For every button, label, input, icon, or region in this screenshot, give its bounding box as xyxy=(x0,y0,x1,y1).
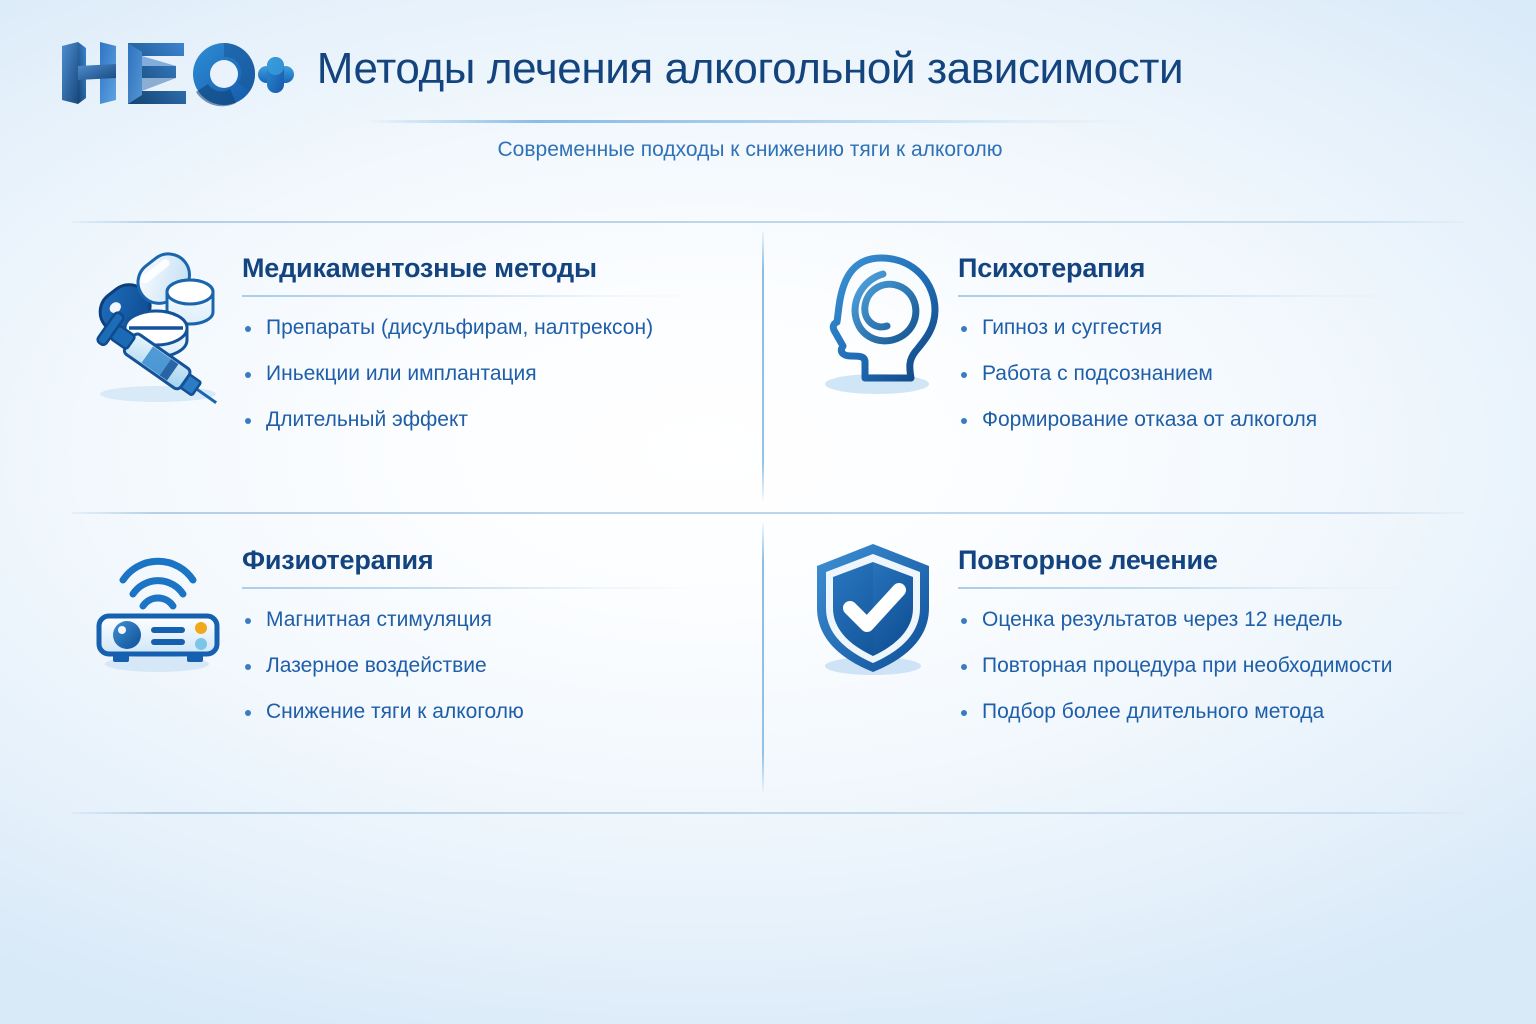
header: Методы лечения алкогольной зависимости С… xyxy=(0,0,1536,200)
divider-vertical-lower xyxy=(762,524,764,792)
bullet-dot-icon xyxy=(961,326,967,332)
divider-bottom xyxy=(72,812,1464,814)
list-item: Иньекции или имплантация xyxy=(242,361,744,387)
shield-check-icon xyxy=(790,532,958,686)
bullet-list: Гипноз и суггестия Работа с подсознанием… xyxy=(958,297,1460,434)
list-item: Работа с подсознанием xyxy=(958,361,1460,387)
list-item: Повторная процедура при необходимости xyxy=(958,653,1460,679)
list-item-label: Формирование отказа от алкоголя xyxy=(982,408,1317,431)
divider-top xyxy=(72,221,1464,223)
card-title: Повторное лечение xyxy=(958,546,1460,576)
list-item-label: Гипноз и суггестия xyxy=(982,316,1162,339)
list-item: Оценка результатов через 12 недель xyxy=(958,607,1460,633)
title-underline xyxy=(365,120,1145,123)
bullet-list: Оценка результатов через 12 недель Повто… xyxy=(958,589,1460,726)
card-body: Физиотерапия Магнитная стимуляция Лазерн… xyxy=(242,532,744,725)
pills-syringe-icon xyxy=(74,240,242,404)
page-subtitle: Современные подходы к снижению тяги к ал… xyxy=(300,138,1200,162)
card-title: Психотерапия xyxy=(958,254,1460,284)
divider-middle xyxy=(72,512,1464,514)
bullet-dot-icon xyxy=(961,618,967,624)
list-item: Лазерное воздействие xyxy=(242,653,744,679)
bullet-dot-icon xyxy=(961,664,967,670)
bullet-dot-icon xyxy=(245,710,251,716)
list-item: Гипноз и суггестия xyxy=(958,315,1460,341)
bullet-dot-icon xyxy=(961,710,967,716)
list-item-label: Работа с подсознанием xyxy=(982,362,1213,385)
bullet-dot-icon xyxy=(245,418,251,424)
page-title: Методы лечения алкогольной зависимости xyxy=(300,44,1200,94)
list-item-label: Лазерное воздействие xyxy=(266,654,487,677)
divider-vertical-upper xyxy=(762,232,764,500)
list-item: Длительный эффект xyxy=(242,407,744,433)
card-title: Физиотерапия xyxy=(242,546,744,576)
list-item: Препараты (дисульфирам, налтрексон) xyxy=(242,315,744,341)
list-item-label: Длительный эффект xyxy=(266,408,468,431)
bullet-dot-icon xyxy=(961,372,967,378)
card-body: Медикаментозные методы Препараты (дисуль… xyxy=(242,240,744,433)
list-item: Подбор более длительного метода xyxy=(958,699,1460,725)
list-item-label: Оценка результатов через 12 недель xyxy=(982,608,1343,631)
bullet-dot-icon xyxy=(245,664,251,670)
list-item-label: Подбор более длительного метода xyxy=(982,700,1324,723)
list-item-label: Препараты (дисульфирам, налтрексон) xyxy=(266,316,653,339)
infographic-page: Методы лечения алкогольной зависимости С… xyxy=(0,0,1536,1024)
list-item-label: Иньекции или имплантация xyxy=(266,362,537,385)
card-body: Психотерапия Гипноз и суггестия Работа с… xyxy=(958,240,1460,433)
list-item: Формирование отказа от алкоголя xyxy=(958,407,1460,433)
card-body: Повторное лечение Оценка результатов чер… xyxy=(958,532,1460,725)
neo-plus-logo xyxy=(56,38,296,112)
list-item-label: Снижение тяги к алкоголю xyxy=(266,700,524,723)
card-title: Медикаментозные методы xyxy=(242,254,744,284)
bullet-dot-icon xyxy=(245,618,251,624)
head-spiral-icon xyxy=(790,240,958,404)
list-item-label: Повторная процедура при необходимости xyxy=(982,654,1392,677)
card-psychotherapy: Психотерапия Гипноз и суггестия Работа с… xyxy=(790,240,1460,433)
bullet-dot-icon xyxy=(961,418,967,424)
bullet-list: Препараты (дисульфирам, налтрексон) Инье… xyxy=(242,297,744,434)
card-physiotherapy: Физиотерапия Магнитная стимуляция Лазерн… xyxy=(74,532,744,725)
list-item: Снижение тяги к алкоголю xyxy=(242,699,744,725)
card-medication: Медикаментозные методы Препараты (дисуль… xyxy=(74,240,744,433)
bullet-dot-icon xyxy=(245,326,251,332)
bullet-dot-icon xyxy=(245,372,251,378)
physiotherapy-device-icon xyxy=(74,532,242,686)
bullet-list: Магнитная стимуляция Лазерное воздействи… xyxy=(242,589,744,726)
list-item: Магнитная стимуляция xyxy=(242,607,744,633)
list-item-label: Магнитная стимуляция xyxy=(266,608,492,631)
card-repeat-treatment: Повторное лечение Оценка результатов чер… xyxy=(790,532,1460,725)
